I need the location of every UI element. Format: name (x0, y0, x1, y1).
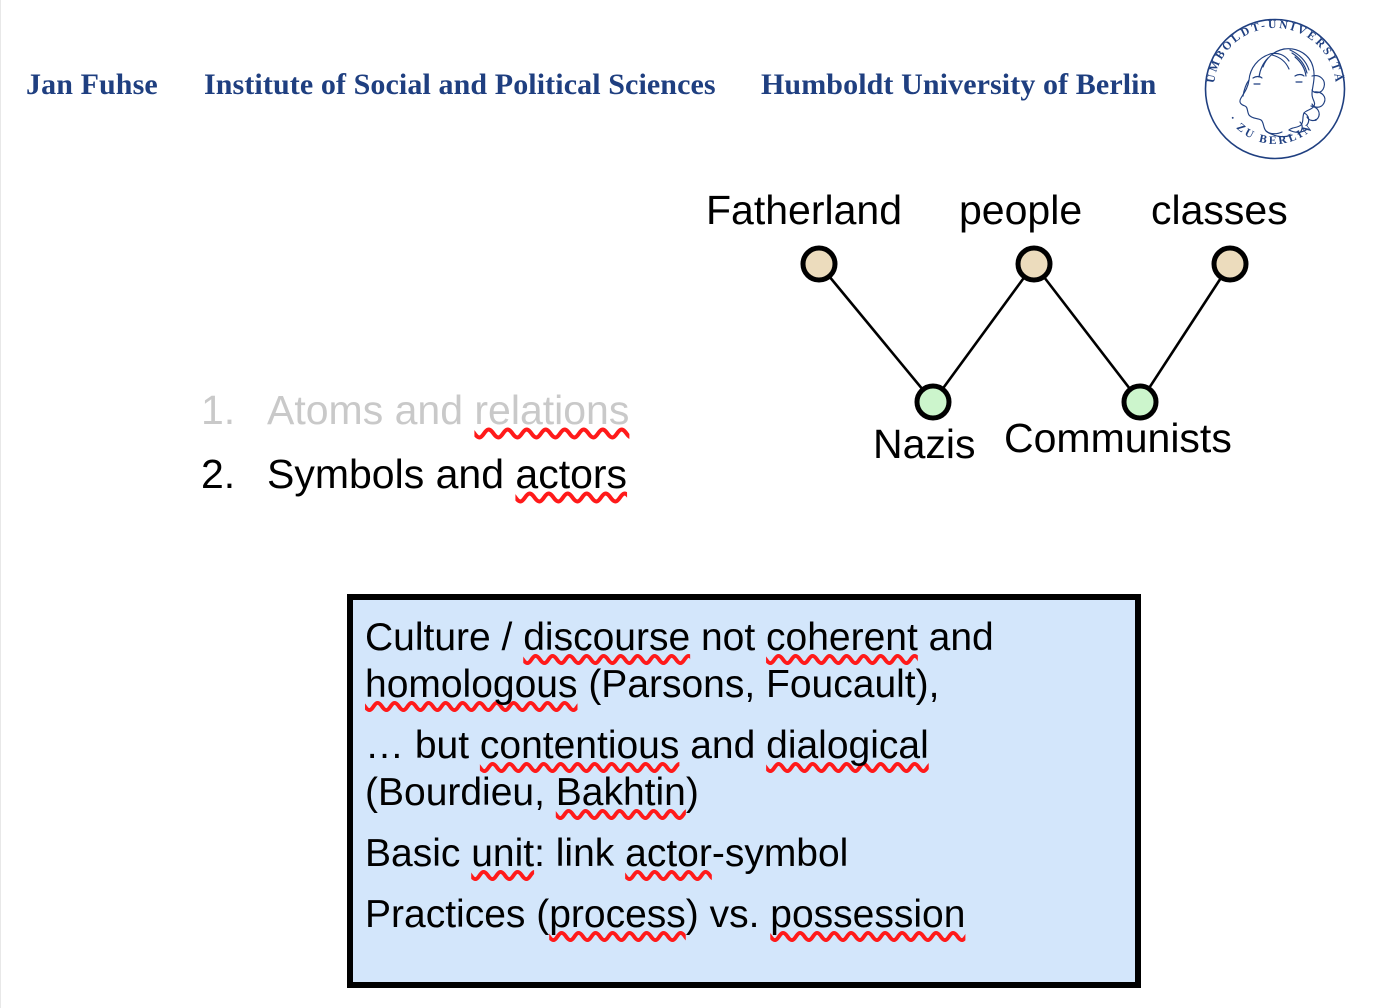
svg-text:HUMBOLDT-UNIVERSITÄT: HUMBOLDT-UNIVERSITÄT (1200, 14, 1347, 85)
humboldt-university-seal-icon: HUMBOLDT-UNIVERSITÄT · ZU BERLIN · (1200, 14, 1350, 164)
network-node-nazis[interactable] (917, 386, 949, 418)
callout-text: Basic (365, 832, 471, 875)
network-node-people[interactable] (1018, 248, 1050, 280)
svg-text:· ZU BERLIN ·: · ZU BERLIN · (1226, 113, 1324, 147)
callout-line: … but contentious and dialogical (365, 722, 1135, 769)
agenda-list: 1. Atoms and relations 2. Symbols and ac… (201, 378, 721, 506)
callout-paragraph: Basic unit: link actor-symbol (365, 830, 1135, 877)
agenda-item-2-misspelled-word: actors (515, 451, 627, 497)
network-node-communists[interactable] (1124, 386, 1156, 418)
slide-header: Jan Fuhse Institute of Social and Politi… (1, 0, 1374, 176)
callout-text: : link (534, 832, 625, 875)
network-node-label-people: people (959, 190, 1082, 231)
callout-line: Culture / discourse not coherent and (365, 614, 1135, 661)
slide-canvas: Jan Fuhse Institute of Social and Politi… (0, 0, 1374, 1008)
callout-line: homologous (Parsons, Foucault), (365, 661, 1135, 708)
network-edge (1034, 264, 1140, 402)
callout-text: ) vs. (686, 893, 771, 936)
network-node-fatherland[interactable] (803, 248, 835, 280)
callout-misspelled-word: possession (770, 893, 965, 936)
network-edge (1140, 264, 1230, 402)
agenda-item-1-label: Atoms and relations (267, 378, 629, 442)
callout-text: (Bourdieu, (365, 771, 556, 814)
header-university: Humboldt University of Berlin (761, 68, 1156, 102)
agenda-item-1[interactable]: 1. Atoms and relations (201, 378, 721, 442)
agenda-item-1-number: 1. (201, 378, 267, 442)
callout-misspelled-word: dialogical (766, 724, 929, 767)
callout-paragraph: Culture / discourse not coherent andhomo… (365, 614, 1135, 708)
callout-paragraph: Practices (process) vs. possession (365, 891, 1135, 938)
callout-text: not (690, 616, 766, 659)
network-node-classes[interactable] (1214, 248, 1246, 280)
network-node-label-fatherland: Fatherland (706, 190, 902, 231)
callout-text: and (918, 616, 994, 659)
callout-line: Practices (process) vs. possession (365, 891, 1135, 938)
callout-misspelled-word: contentious (480, 724, 679, 767)
callout-misspelled-word: process (549, 893, 686, 936)
callout-line: (Bourdieu, Bakhtin) (365, 769, 1135, 816)
network-edge (819, 264, 933, 402)
callout-text: -symbol (712, 832, 849, 875)
network-node-label-communists: Communists (1004, 418, 1232, 459)
callout-misspelled-word: Bakhtin (556, 771, 686, 814)
callout-text: (Parsons, Foucault), (577, 663, 939, 706)
callout-text: and (679, 724, 766, 767)
header-institute: Institute of Social and Political Scienc… (204, 68, 716, 102)
agenda-item-2-number: 2. (201, 442, 267, 506)
callout-text: Practices ( (365, 893, 549, 936)
agenda-item-2-label: Symbols and actors (267, 442, 627, 506)
callout-text: ) (686, 771, 699, 814)
network-node-label-classes: classes (1151, 190, 1288, 231)
agenda-item-1-misspelled-word: relations (474, 387, 629, 433)
header-author: Jan Fuhse (26, 68, 158, 102)
network-edge (933, 264, 1034, 402)
callout-paragraph: … but contentious and dialogical(Bourdie… (365, 722, 1135, 816)
callout-misspelled-word: actor (625, 832, 712, 875)
callout-text: … but (365, 724, 480, 767)
callout-box: Culture / discourse not coherent andhomo… (347, 594, 1141, 988)
callout-text: Culture / (365, 616, 523, 659)
callout-line: Basic unit: link actor-symbol (365, 830, 1135, 877)
callout-misspelled-word: coherent (766, 616, 918, 659)
callout-misspelled-word: discourse (523, 616, 690, 659)
callout-misspelled-word: unit (471, 832, 534, 875)
bipartite-network-diagram: FatherlandpeopleclassesNazisCommunists (681, 180, 1341, 480)
agenda-item-2[interactable]: 2. Symbols and actors (201, 442, 721, 506)
callout-misspelled-word: homologous (365, 663, 577, 706)
network-node-label-nazis: Nazis (873, 424, 976, 465)
